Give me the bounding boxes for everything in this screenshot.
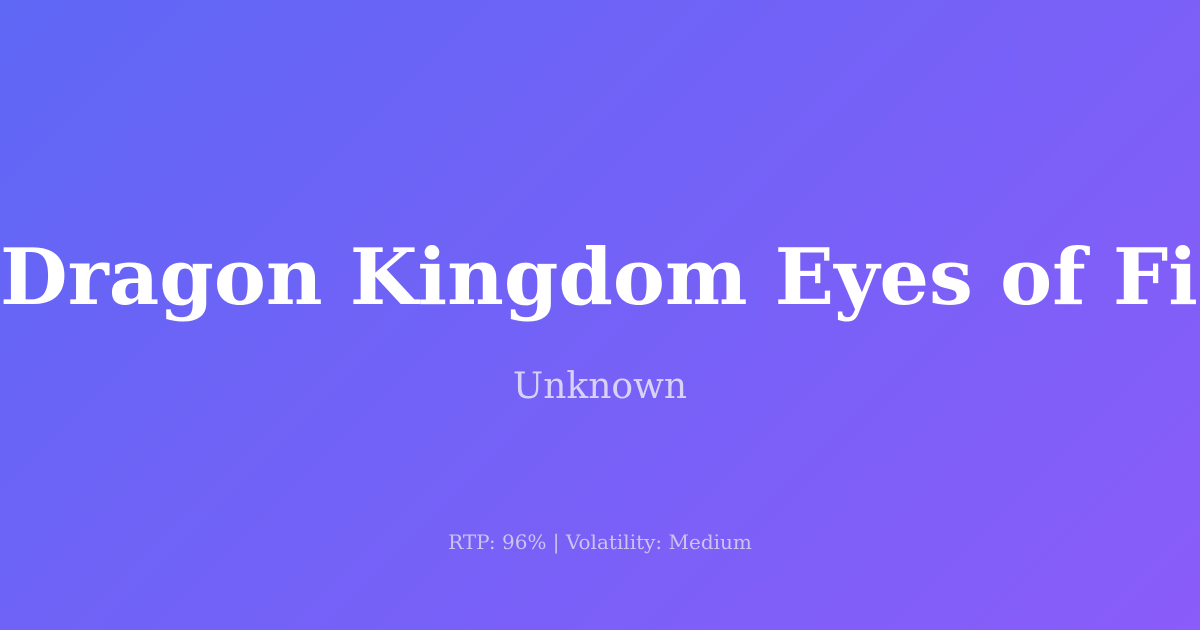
card-stats-footer: RTP: 96% | Volatility: Medium [0,528,1200,556]
og-share-card: Dragon Kingdom Eyes of Fire Unknown RTP:… [0,0,1200,630]
page-title: Dragon Kingdom Eyes of Fire [0,232,1200,324]
card-subtitle-provider: Unknown [0,362,1200,412]
